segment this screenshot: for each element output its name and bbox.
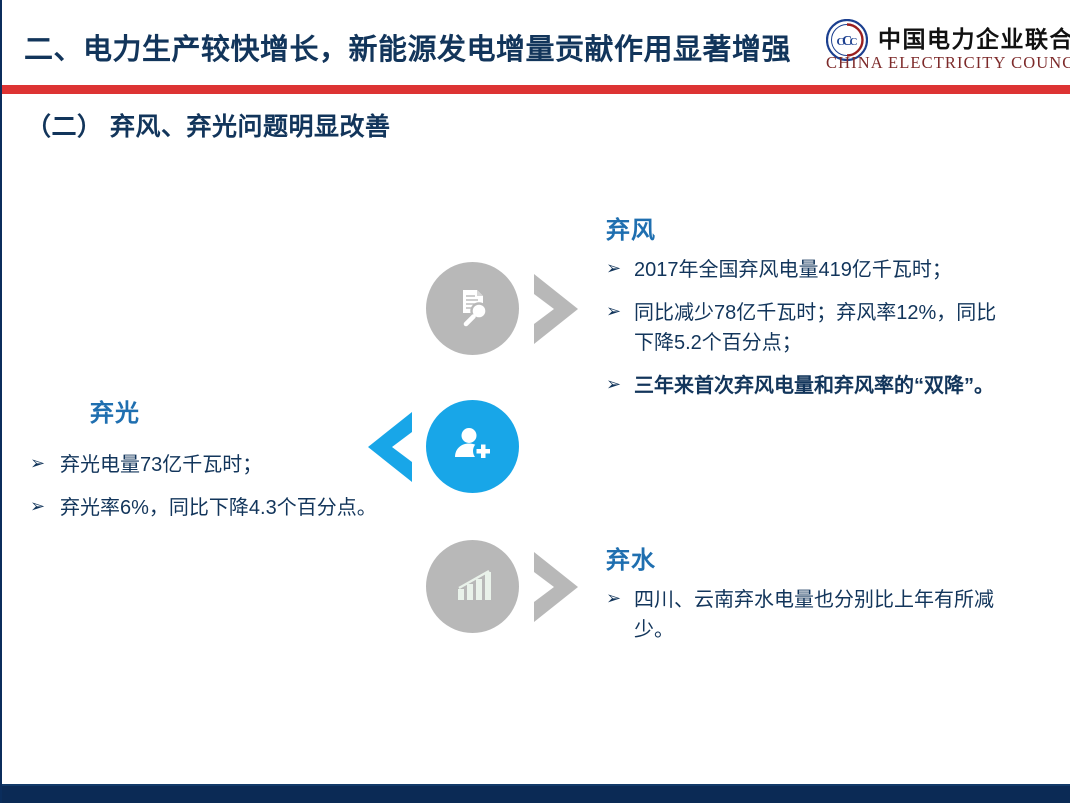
bullet-text: 三年来首次弃风电量和弃风率的“双降”。 [634, 371, 994, 401]
list-item: ➢ 弃光率6%，同比下降4.3个百分点。 [30, 493, 460, 523]
block-qiguang-bullets: ➢ 弃光电量73亿千瓦时； ➢ 弃光率6%，同比下降4.3个百分点。 [30, 450, 460, 523]
chevron-right-icon [530, 550, 582, 624]
slide: 二、电力生产较快增长，新能源发电增量贡献作用显著增强 C C C 中国电力企业联… [0, 0, 1070, 803]
list-item: ➢ 2017年全国弃风电量419亿千瓦时； [606, 255, 1006, 285]
list-item: ➢ 同比减少78亿千瓦时；弃风率12%，同比下降5.2个百分点； [606, 298, 1006, 358]
block-qishui: 弃水 ➢ 四川、云南弃水电量也分别比上年有所减少。 [606, 540, 1006, 658]
footer-bar [2, 786, 1070, 803]
bullet-text: 弃光电量73亿千瓦时； [60, 450, 262, 480]
document-search-icon-badge [426, 262, 519, 355]
block-qishui-bullets: ➢ 四川、云南弃水电量也分别比上年有所减少。 [606, 585, 1006, 645]
bar-chart-icon [453, 564, 493, 609]
section-subtitle: （二） 弃风、弃光问题明显改善 [26, 107, 390, 143]
block-qiguang: 弃光 ➢ 弃光电量73亿千瓦时； ➢ 弃光率6%，同比下降4.3个百分点。 [30, 393, 460, 536]
block-qifeng-heading: 弃风 [606, 210, 1006, 245]
header-red-divider [2, 85, 1070, 94]
bar-chart-icon-badge [426, 540, 519, 633]
block-qifeng-bullets: ➢ 2017年全国弃风电量419亿千瓦时； ➢ 同比减少78亿千瓦时；弃风率12… [606, 255, 1006, 401]
chevron-right-icon [530, 272, 582, 346]
list-item: ➢ 弃光电量73亿千瓦时； [30, 450, 460, 480]
block-qishui-heading: 弃水 [606, 540, 1006, 575]
bullet-arrow-icon: ➢ [606, 298, 634, 324]
bullet-arrow-icon: ➢ [606, 255, 634, 281]
block-qifeng: 弃风 ➢ 2017年全国弃风电量419亿千瓦时； ➢ 同比减少78亿千瓦时；弃风… [606, 210, 1006, 414]
bullet-text: 同比减少78亿千瓦时；弃风率12%，同比下降5.2个百分点； [634, 298, 1006, 358]
bullet-arrow-icon: ➢ [30, 493, 60, 519]
logo-name-en: CHINA ELECTRICITY COUNCIL [826, 53, 1070, 73]
block-qiguang-heading: 弃光 [90, 393, 460, 428]
slide-header: 二、电力生产较快增长，新能源发电增量贡献作用显著增强 C C C 中国电力企业联… [2, 0, 1070, 85]
bullet-arrow-icon: ➢ [606, 371, 634, 397]
svg-text:C: C [850, 36, 858, 48]
bullet-text: 2017年全国弃风电量419亿千瓦时； [634, 255, 952, 285]
bullet-arrow-icon: ➢ [606, 585, 634, 611]
bullet-text: 弃光率6%，同比下降4.3个百分点。 [60, 493, 377, 523]
svg-text:C: C [837, 36, 845, 48]
logo-name-cn: 中国电力企业联合会 [878, 20, 1070, 54]
page-title: 二、电力生产较快增长，新能源发电增量贡献作用显著增强 [24, 26, 791, 68]
list-item: ➢ 四川、云南弃水电量也分别比上年有所减少。 [606, 585, 1006, 645]
cec-logo: C C C 中国电力企业联合会 CHINA ELECTRICITY COUNCI… [826, 17, 1058, 79]
bullet-text: 四川、云南弃水电量也分别比上年有所减少。 [634, 585, 1006, 645]
list-item: ➢ 三年来首次弃风电量和弃风率的“双降”。 [606, 371, 1006, 401]
bullet-arrow-icon: ➢ [30, 450, 60, 476]
document-search-icon [450, 283, 496, 334]
